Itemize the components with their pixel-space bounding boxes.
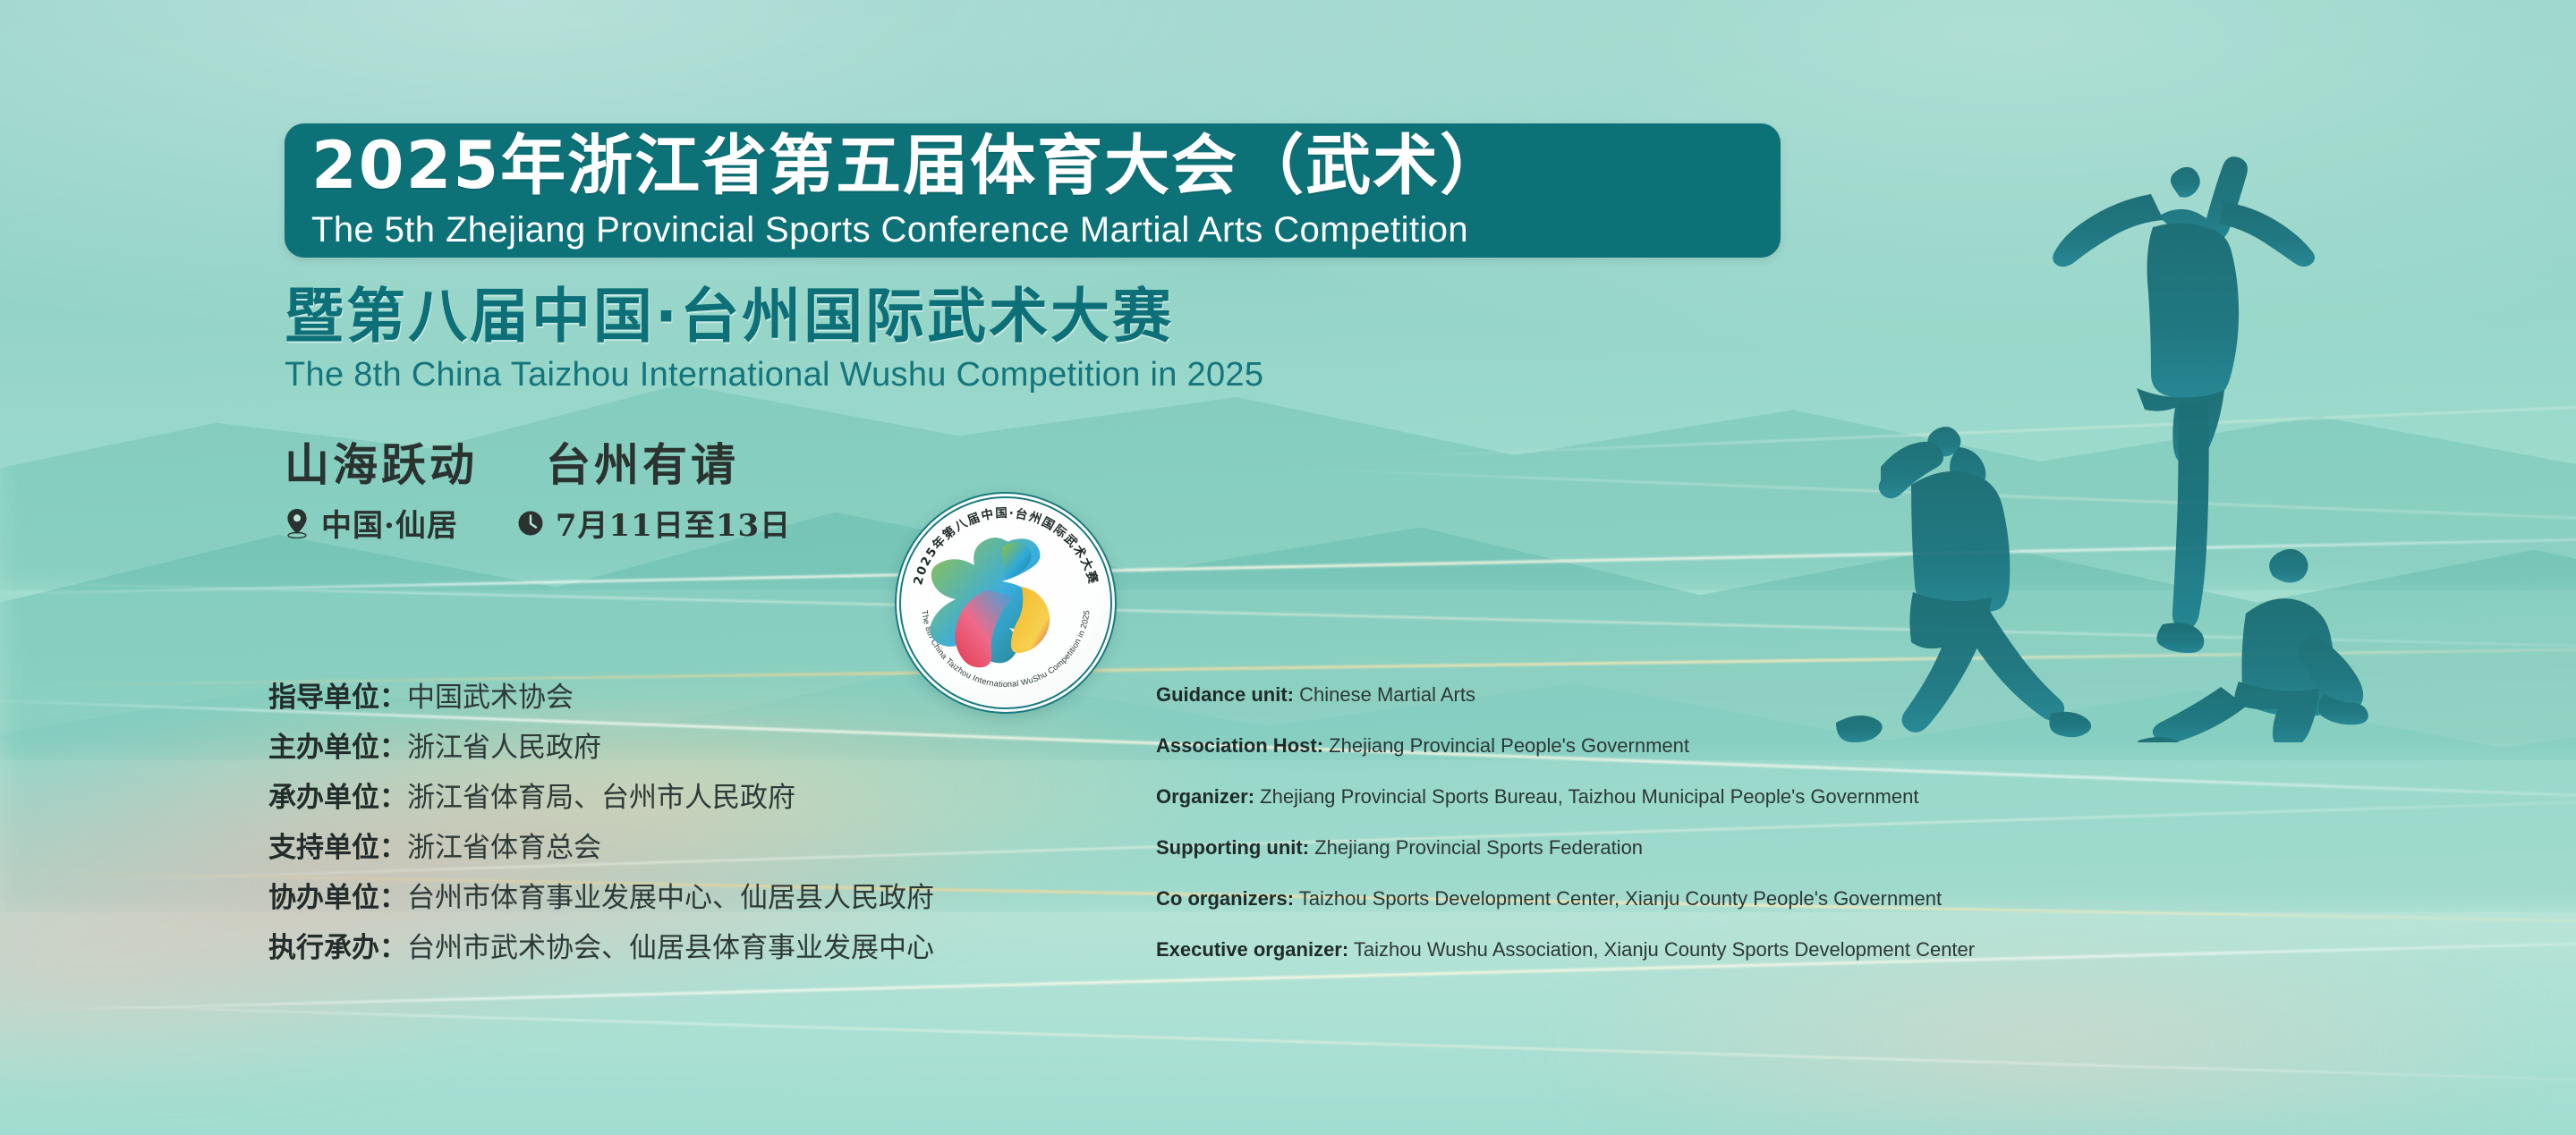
- credit-value: Zhejiang Provincial People's Government: [1329, 734, 1689, 757]
- slogan: 山海跃动 台州有请: [285, 429, 739, 494]
- credit-value: Taizhou Wushu Association, Xianju County…: [1354, 938, 1975, 961]
- credit-key: 协办单位：: [268, 882, 407, 914]
- credit-key: Co organizers:: [1156, 887, 1294, 910]
- event-date-label: 7月11日至13日: [556, 501, 791, 545]
- credit-value: 浙江省体育总会: [407, 832, 601, 864]
- credit-row: Supporting unit: Zhejiang Provincial Spo…: [1156, 822, 1975, 873]
- event-meta: 中国·仙居 7月11日至13日: [285, 501, 791, 545]
- credit-row: Guidance unit: Chinese Martial Arts: [1156, 669, 1975, 720]
- credit-row: 主办单位：浙江省人民政府: [268, 723, 934, 773]
- credit-value: 浙江省体育局、台州市人民政府: [407, 782, 795, 814]
- credit-value: Zhejiang Provincial Sports Federation: [1314, 836, 1643, 859]
- emblem-wushu-mark: [930, 538, 1050, 667]
- wushu-figure-kick: [2053, 157, 2315, 653]
- credit-key: 承办单位：: [268, 782, 407, 814]
- credit-row: 执行承办：台州市武术协会、仙居县体育事业发展中心: [268, 923, 934, 973]
- credit-key: 指导单位：: [268, 682, 407, 714]
- credit-key: Supporting unit:: [1156, 836, 1309, 859]
- event-date: 7月11日至13日: [517, 501, 791, 545]
- credit-key: 主办单位：: [268, 732, 407, 764]
- slogan-part-1: 山海跃动: [285, 429, 478, 494]
- credit-key: 执行承办：: [268, 932, 407, 964]
- credit-key: Organizer:: [1156, 785, 1254, 808]
- credit-row: 指导单位：中国武术协会: [268, 673, 934, 723]
- credit-value: 台州市武术协会、仙居县体育事业发展中心: [407, 932, 934, 964]
- credit-row: Co organizers: Taizhou Sports Developmen…: [1156, 873, 1975, 924]
- credit-key: 支持单位：: [268, 832, 407, 864]
- credit-key: Association Host:: [1156, 734, 1323, 757]
- credit-row: 协办单位：台州市体育事业发展中心、仙居县人民政府: [268, 873, 934, 923]
- credits-list-en: Guidance unit: Chinese Martial Arts Asso…: [1156, 669, 1975, 975]
- slogan-part-2: 台州有请: [546, 429, 739, 494]
- wushu-figures-group: [1825, 134, 2568, 742]
- location-pin-icon: [285, 508, 310, 538]
- credit-value: 台州市体育事业发展中心、仙居县人民政府: [407, 882, 934, 914]
- event-location: 中国·仙居: [285, 501, 458, 545]
- credit-row: Association Host: Zhejiang Provincial Pe…: [1156, 720, 1975, 771]
- credit-row: 承办单位：浙江省体育局、台州市人民政府: [268, 773, 934, 823]
- credit-key: Executive organizer:: [1156, 938, 1348, 961]
- main-title-cn: 2025年浙江省第五届体育大会（武术）: [311, 120, 1507, 213]
- credit-value: Zhejiang Provincial Sports Bureau, Taizh…: [1260, 785, 1918, 808]
- credit-value: Chinese Martial Arts: [1299, 683, 1475, 706]
- credit-value: Taizhou Sports Development Center, Xianj…: [1299, 887, 1942, 910]
- main-title-en: The 5th Zhejiang Provincial Sports Confe…: [311, 209, 1468, 250]
- credit-value: 浙江省人民政府: [407, 732, 601, 764]
- credit-row: 支持单位：浙江省体育总会: [268, 823, 934, 873]
- poster-canvas: 2025年浙江省第五届体育大会（武术） The 5th Zhejiang Pro…: [0, 0, 2576, 1135]
- credit-row: Executive organizer: Taizhou Wushu Assoc…: [1156, 924, 1975, 975]
- subtitle-cn: 暨第八届中国·台州国际武术大赛: [285, 268, 1174, 354]
- main-title-box: 2025年浙江省第五届体育大会（武术） The 5th Zhejiang Pro…: [285, 123, 1781, 258]
- credits-list-cn: 指导单位：中国武术协会 主办单位：浙江省人民政府 承办单位：浙江省体育局、台州市…: [268, 673, 934, 973]
- event-location-label: 中国·仙居: [321, 501, 458, 545]
- credit-key: Guidance unit:: [1156, 683, 1294, 706]
- credit-row: Organizer: Zhejiang Provincial Sports Bu…: [1156, 771, 1975, 822]
- credit-value: 中国武术协会: [407, 682, 574, 714]
- clock-icon: [517, 510, 544, 537]
- subtitle-en: The 8th China Taizhou International Wush…: [285, 356, 1263, 394]
